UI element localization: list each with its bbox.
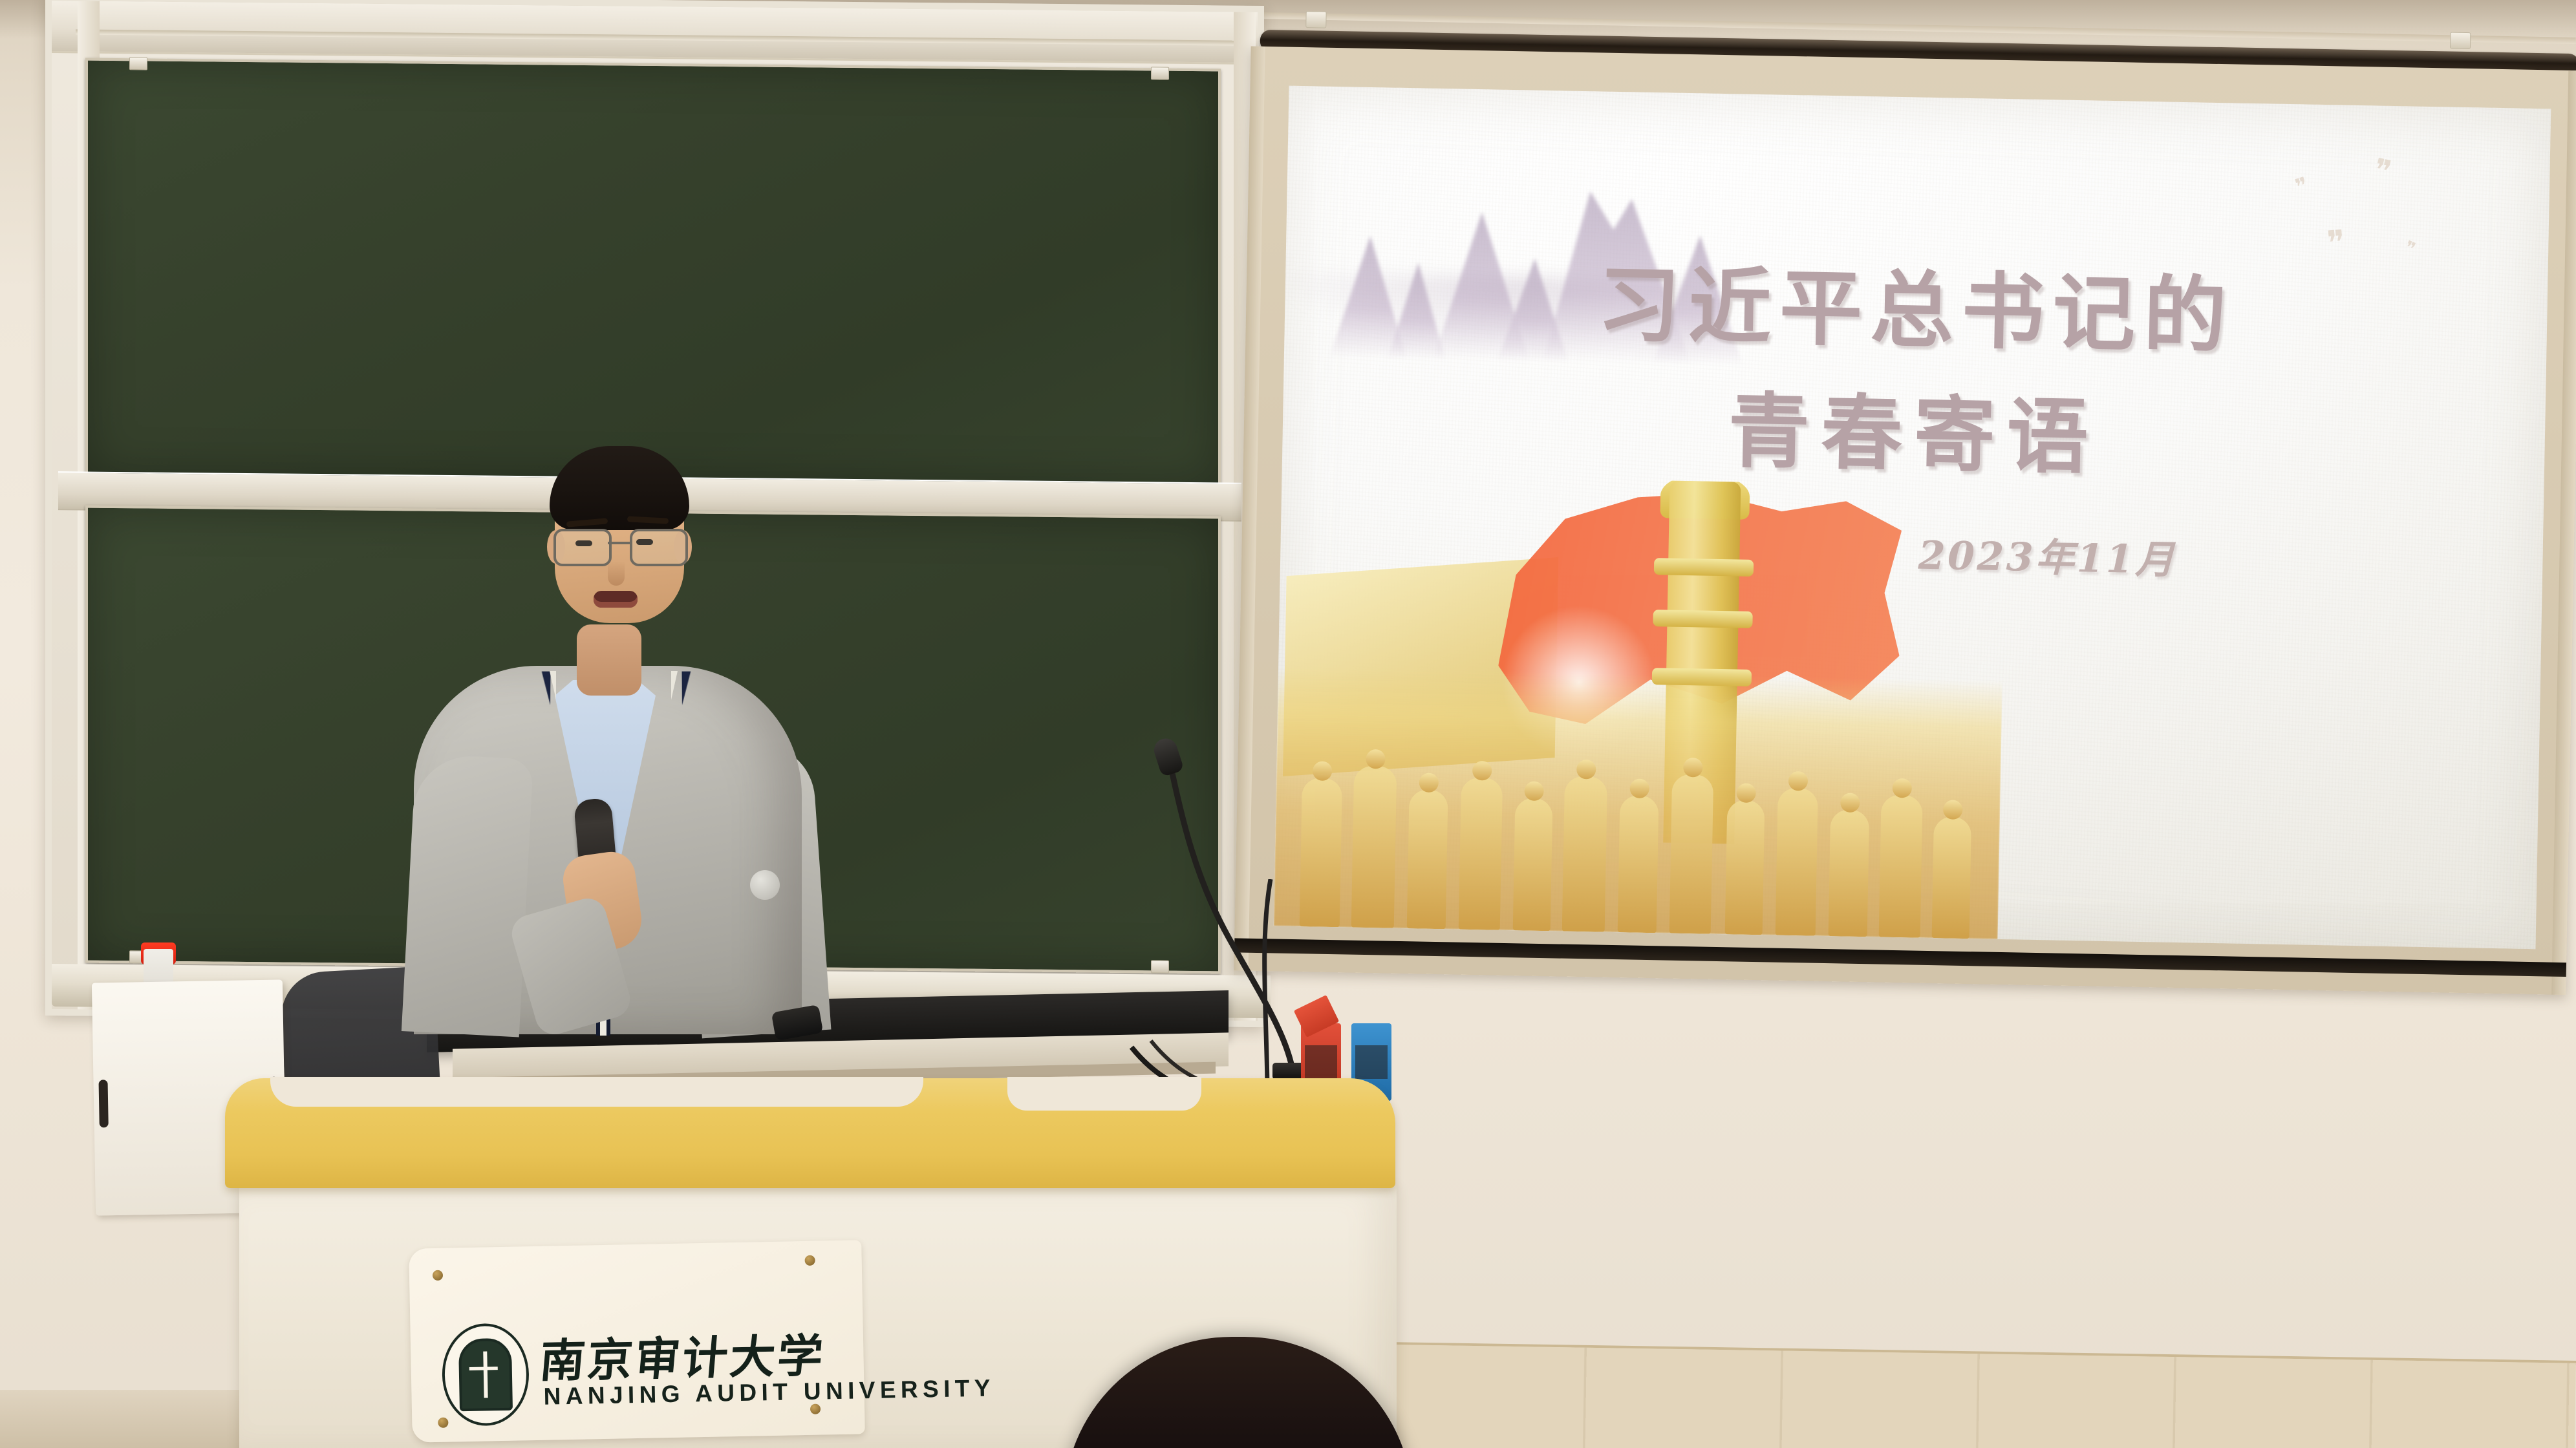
relief-figure xyxy=(1879,795,1923,938)
plaque-screw xyxy=(810,1404,821,1414)
plaque-screw xyxy=(438,1418,448,1428)
monitor-vent xyxy=(98,1080,108,1127)
relief-figure xyxy=(1725,800,1765,935)
university-seal-logo xyxy=(441,1323,530,1427)
relief-figure xyxy=(1459,778,1503,930)
screen-bracket xyxy=(1305,11,1326,28)
column-ring xyxy=(1653,610,1752,628)
slide-title-line-2: 青春寄语 xyxy=(1282,357,2546,498)
chalkboard-panel-upper xyxy=(85,58,1221,488)
relief-figure xyxy=(1351,766,1397,928)
presenter-hair xyxy=(550,446,689,530)
presenter-glasses xyxy=(553,529,687,562)
university-plaque: 南京审计大学 NANJING AUDIT UNIVERSITY xyxy=(409,1240,865,1442)
presenter-mouth xyxy=(594,591,638,608)
relief-figure xyxy=(1932,816,1971,939)
presenter xyxy=(414,452,828,1034)
presenter-neck xyxy=(577,624,641,696)
glasses-lens-left xyxy=(553,529,612,566)
projection-screen: ❞ ❞ ❞ ❞ xyxy=(1249,0,2576,1006)
presenter-nose xyxy=(608,561,625,586)
relief-figure xyxy=(1562,776,1607,932)
slide-title-line-1: 习近平总书记的 xyxy=(1284,232,2548,375)
relief-figure xyxy=(1776,788,1818,936)
wall-tile-wainscot xyxy=(1388,1345,2575,1448)
rail-groove xyxy=(76,29,1233,45)
glasses-lens-right xyxy=(630,529,688,566)
screen-bracket xyxy=(2450,32,2471,50)
plaque-screw xyxy=(804,1255,815,1266)
relief-figure xyxy=(1669,774,1713,934)
relief-figure xyxy=(1407,789,1448,929)
classroom-photo: ❞ ❞ ❞ ❞ xyxy=(0,0,2576,1448)
slide-surface: ❞ ❞ ❞ ❞ xyxy=(1274,86,2551,950)
plaque-screw xyxy=(433,1270,443,1281)
lectern-top-ledge xyxy=(225,1078,1395,1188)
relief-figure xyxy=(1513,798,1553,931)
board-clip xyxy=(1151,67,1169,80)
sleeve-logo-patch xyxy=(750,870,780,900)
relief-figure xyxy=(1829,809,1870,937)
glasses-bridge xyxy=(608,542,630,544)
seal-inner-glyph xyxy=(458,1338,513,1412)
presenter-left-arm xyxy=(402,754,533,1038)
chalkboard-top-rail xyxy=(52,1,1258,65)
board-clip xyxy=(129,57,147,70)
relief-figure xyxy=(1618,795,1659,933)
